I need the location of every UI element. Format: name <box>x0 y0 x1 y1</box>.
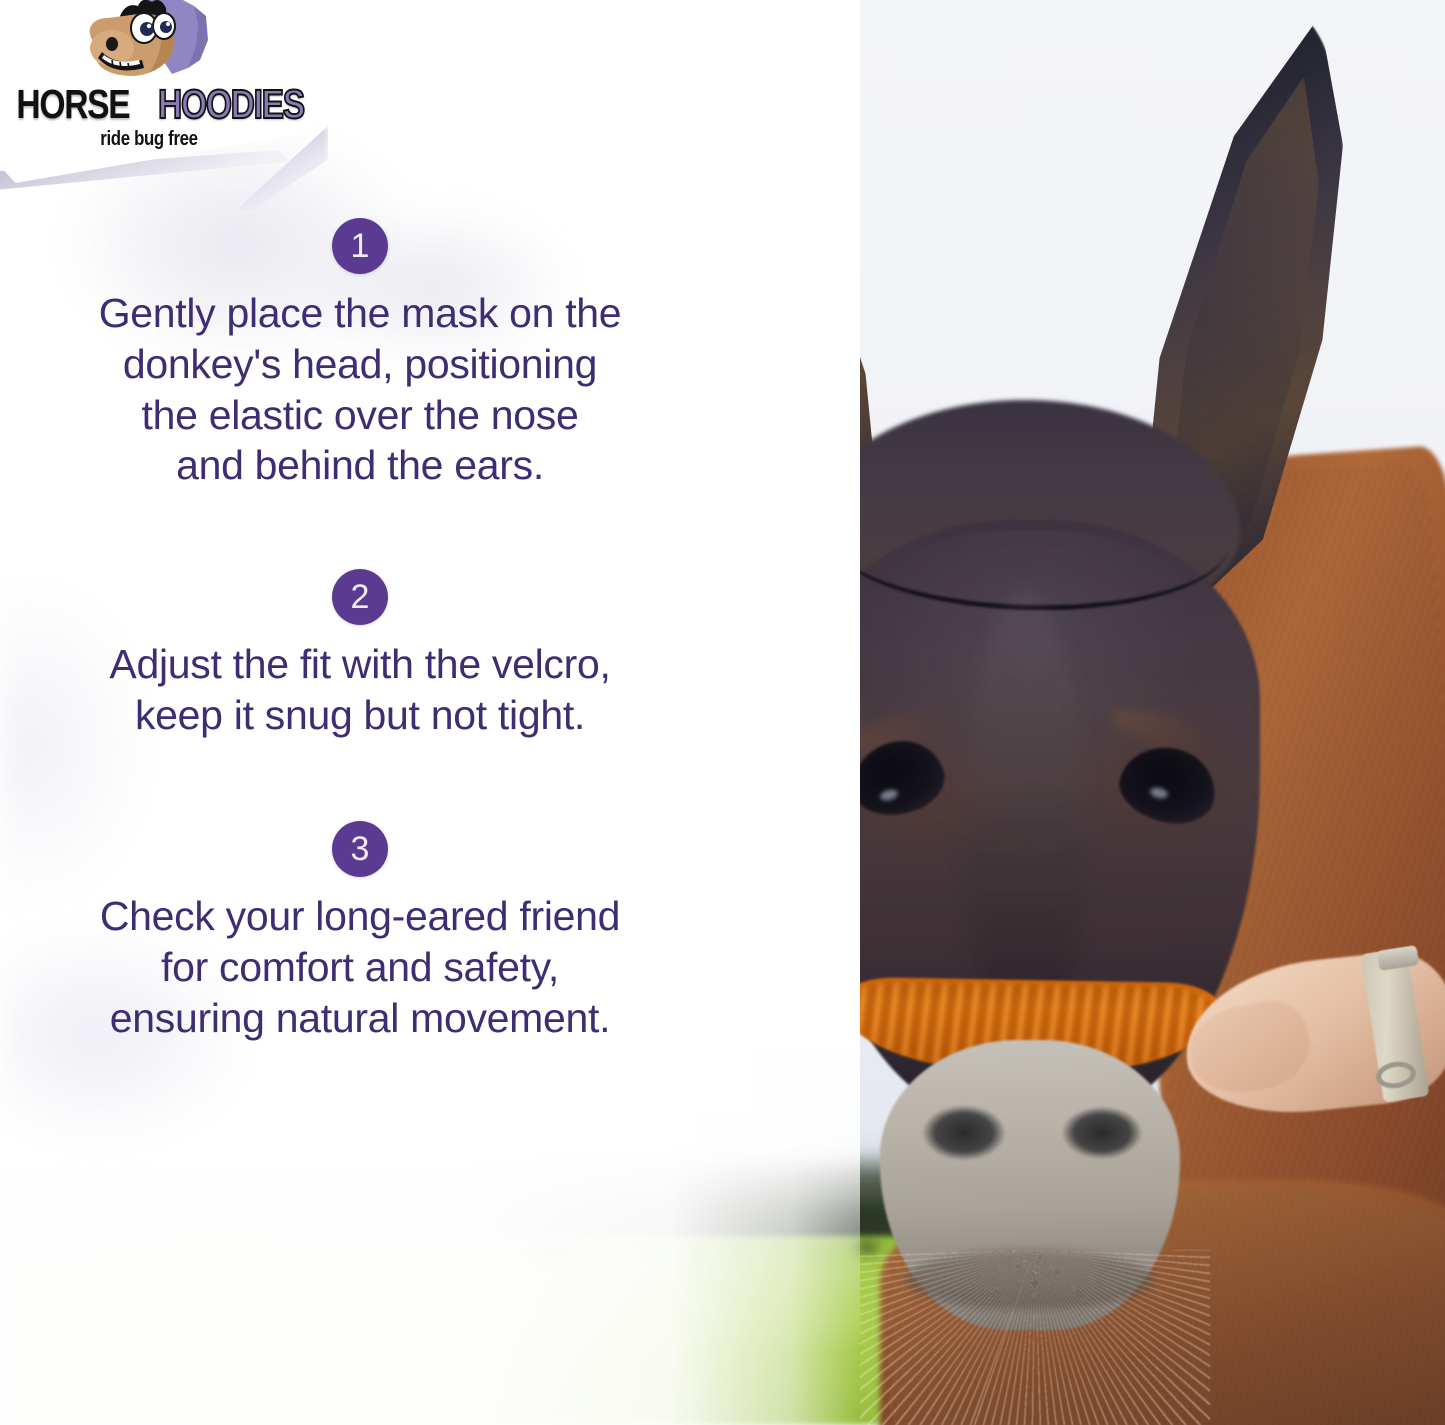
cartoon-horse-head-in-hood-icon <box>68 0 218 92</box>
step-3-number-badge: 3 <box>332 821 388 877</box>
brand-tagline-text: ride bug free <box>100 128 197 151</box>
instruction-step-1: 1 Gently place the mask on the donkey's … <box>0 218 720 491</box>
step-1-text: Gently place the mask on the donkey's he… <box>50 288 670 491</box>
instruction-step-2: 2 Adjust the fit with the velcro, keep i… <box>0 569 720 741</box>
promo-graphic-canvas: HORSEHOODIES ride bug free 1 Gently plac… <box>0 0 1445 1425</box>
donkey-whiskers <box>860 1250 1210 1425</box>
step-2-number-badge: 2 <box>332 569 388 625</box>
step-2-text: Adjust the fit with the velcro, keep it … <box>50 639 670 741</box>
wordmark-horse: HORSE <box>16 84 129 125</box>
instruction-step-3: 3 Check your long-eared friend for comfo… <box>0 821 720 1043</box>
step-3-text: Check your long-eared friend for comfort… <box>50 891 670 1043</box>
instruction-steps-list: 1 Gently place the mask on the donkey's … <box>0 218 720 1043</box>
brand-wordmark: HORSEHOODIES <box>4 84 294 125</box>
step-1-number-badge: 1 <box>332 218 388 274</box>
wordmark-hoodies: HOODIES <box>158 84 304 125</box>
